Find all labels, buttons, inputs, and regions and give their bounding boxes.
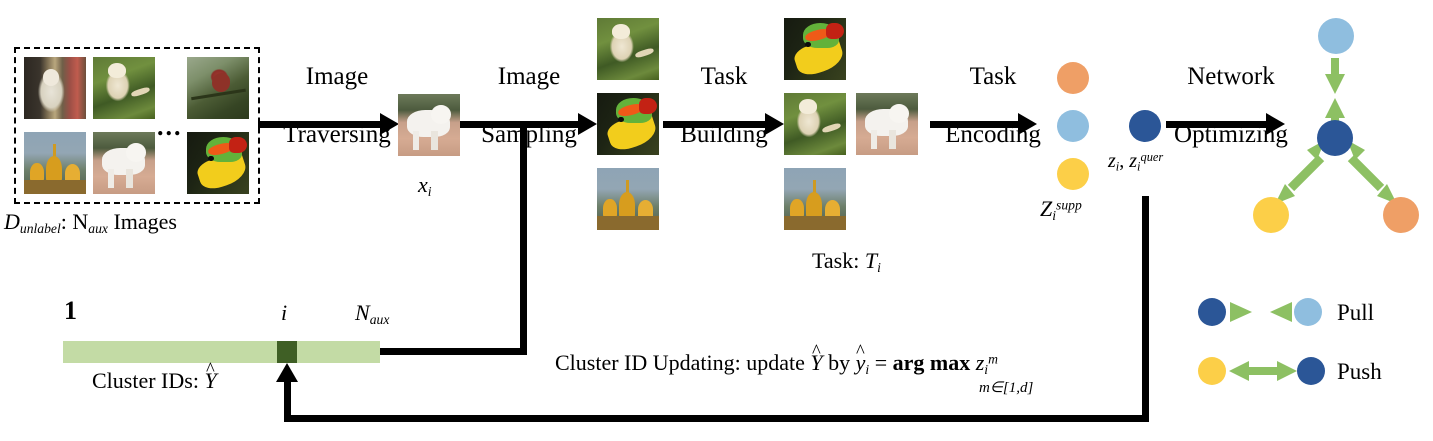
cluster-bar-feed-horizontal <box>379 348 527 355</box>
dataset-thumb-golden-temple <box>24 132 86 194</box>
stage-label-image-traversing-line1: Image <box>267 62 407 91</box>
query-dot-dark-blue <box>1129 110 1161 142</box>
query-embedding-label: zi, ziquer <box>1108 150 1163 174</box>
query-embedding-label-z1: z <box>1108 150 1116 172</box>
cluster-bar-caption-symbol: ^Y <box>204 368 216 394</box>
node-light-blue <box>1318 18 1354 54</box>
cluster-id-bar[interactable] <box>63 341 380 363</box>
task-support-thumb-toucan <box>784 18 846 80</box>
cluster-bar-caption-text: Cluster IDs: <box>92 368 204 393</box>
sampled-batch-thumb-toucan <box>597 93 659 155</box>
edge-push-darkblue-yellow <box>1275 140 1325 204</box>
arrow-task-encoding-head <box>1018 113 1037 135</box>
stage-label-task-encoding: Task Encoding <box>925 33 1061 178</box>
update-note-z-rhs: z <box>976 350 985 375</box>
arrow-task-encoding-shaft <box>930 121 1018 128</box>
dataset-caption: Dunlabel: Naux Images <box>4 209 177 237</box>
support-dot-light-blue <box>1057 110 1089 142</box>
node-yellow <box>1253 197 1289 233</box>
cluster-bar-feed-vertical <box>520 121 527 355</box>
arrow-image-sampling-shaft <box>460 121 578 128</box>
dataset-thumb-red-bird-on-branch <box>187 57 249 119</box>
update-note-by: by <box>823 350 856 375</box>
cluster-bar-end-label-base: N <box>355 300 370 325</box>
support-dot-orange <box>1057 62 1089 94</box>
update-note-argmax: arg max <box>893 350 971 375</box>
feedback-loop-arrowhead <box>276 363 298 382</box>
stage-label-task-building: Task Building <box>664 33 784 178</box>
legend-push-left-dot <box>1198 357 1226 385</box>
cluster-bar-caption-hatmark: ^ <box>206 359 215 381</box>
support-set-label-base: Z <box>1040 196 1052 221</box>
support-set-label: Zisupp <box>1040 196 1082 224</box>
update-note-Y-hatmark: ^ <box>812 341 821 363</box>
query-embedding-label-sep: , <box>1119 150 1129 172</box>
legend-push-right-dot <box>1297 357 1325 385</box>
update-note-eq: = <box>869 350 892 375</box>
dataset-thumb-dog-on-street <box>24 57 86 119</box>
legend-pull-arrow <box>1230 298 1292 326</box>
dataset-caption-images: Images <box>108 209 177 234</box>
support-set-label-sup: supp <box>1056 197 1082 212</box>
legend-pull-left-dot <box>1198 298 1226 326</box>
legend-pull-right-dot <box>1294 298 1322 326</box>
cluster-id-bar-selected-segment[interactable] <box>277 341 297 363</box>
sampled-batch-thumb-golden-temple <box>597 168 659 230</box>
feedback-loop-right-vertical <box>1142 196 1149 422</box>
stage-label-task-building-line1: Task <box>664 62 784 91</box>
legend-push-arrow <box>1229 357 1297 385</box>
task-query-thumb-white-dog <box>856 93 918 155</box>
dataset-caption-aux: aux <box>88 221 108 236</box>
arrow-image-traversing-head <box>380 113 399 135</box>
task-support-thumb-golden-temple <box>784 168 846 230</box>
sampled-image-label: xi <box>418 172 432 200</box>
dataset-caption-d: D <box>4 209 20 234</box>
stage-label-image-traversing: Image Traversing <box>267 33 407 178</box>
update-note-Y-hat: ^Y <box>810 350 822 376</box>
task-caption-sub: i <box>877 260 881 275</box>
dataset-thumb-dog-on-grass <box>93 57 155 119</box>
arrow-task-building-shaft <box>663 121 765 128</box>
arrow-image-sampling-head <box>578 113 597 135</box>
cluster-bar-start-label: 1 <box>64 296 77 326</box>
sampled-batch-thumb-dog-on-grass <box>597 18 659 80</box>
task-support-thumb-dog-on-grass <box>784 93 846 155</box>
support-dot-yellow <box>1057 158 1089 190</box>
sampled-image-label-base: x <box>418 172 428 197</box>
sampled-image-label-sub: i <box>428 184 432 199</box>
update-note-argmax-subscript: m∈[1,d] <box>979 378 1033 397</box>
stage-label-image-sampling: Image Sampling <box>459 33 599 178</box>
update-note-prefix: Cluster ID Updating: update <box>555 350 810 375</box>
node-orange <box>1383 197 1419 233</box>
update-note-y-lhs: ^y <box>856 350 866 376</box>
dataset-caption-unlabel: unlabel <box>20 221 61 236</box>
dataset-thumb-white-dog-on-floor <box>93 132 155 194</box>
sampled-image-x-i <box>398 94 460 156</box>
legend-push-label: Push <box>1337 359 1382 385</box>
figure-canvas: ... Dunlabel: Naux Images Image Traversi… <box>0 0 1433 441</box>
dataset-caption-mid: : N <box>61 209 89 234</box>
task-caption-text: Task: <box>812 248 865 273</box>
arrow-image-traversing-shaft <box>258 121 380 128</box>
dataset-thumb-toucan <box>187 132 249 194</box>
update-note-z-rhs-sup: m <box>988 351 998 366</box>
cluster-bar-index-label: i <box>281 300 287 326</box>
task-caption: Task: Ti <box>812 248 881 276</box>
edge-push-darkblue-orange <box>1347 140 1397 204</box>
cluster-bar-end-label-sub: aux <box>370 312 390 327</box>
cluster-bar-index-label-text: i <box>281 300 287 325</box>
stage-label-task-encoding-line1: Task <box>925 62 1061 91</box>
task-caption-base: T <box>865 248 877 273</box>
cluster-id-updating-note: Cluster ID Updating: update ^Y by ^yi = … <box>555 350 998 378</box>
update-note-y-lhs-hatmark: ^ <box>856 341 865 363</box>
feedback-loop-left-vertical <box>284 380 291 418</box>
legend-pull-label: Pull <box>1337 300 1374 326</box>
query-embedding-label-z2: z <box>1129 150 1137 172</box>
cluster-bar-caption: Cluster IDs: ^Y <box>92 368 217 394</box>
feedback-loop-bottom-horizontal <box>284 415 1146 422</box>
stage-label-image-sampling-line1: Image <box>459 62 599 91</box>
dataset-ellipsis: ... <box>157 112 183 142</box>
node-dark-blue-center <box>1317 120 1353 156</box>
arrow-task-building-head <box>765 113 784 135</box>
cluster-bar-end-label: Naux <box>355 300 389 328</box>
query-embedding-label-z2-sup: quer <box>1141 150 1164 164</box>
